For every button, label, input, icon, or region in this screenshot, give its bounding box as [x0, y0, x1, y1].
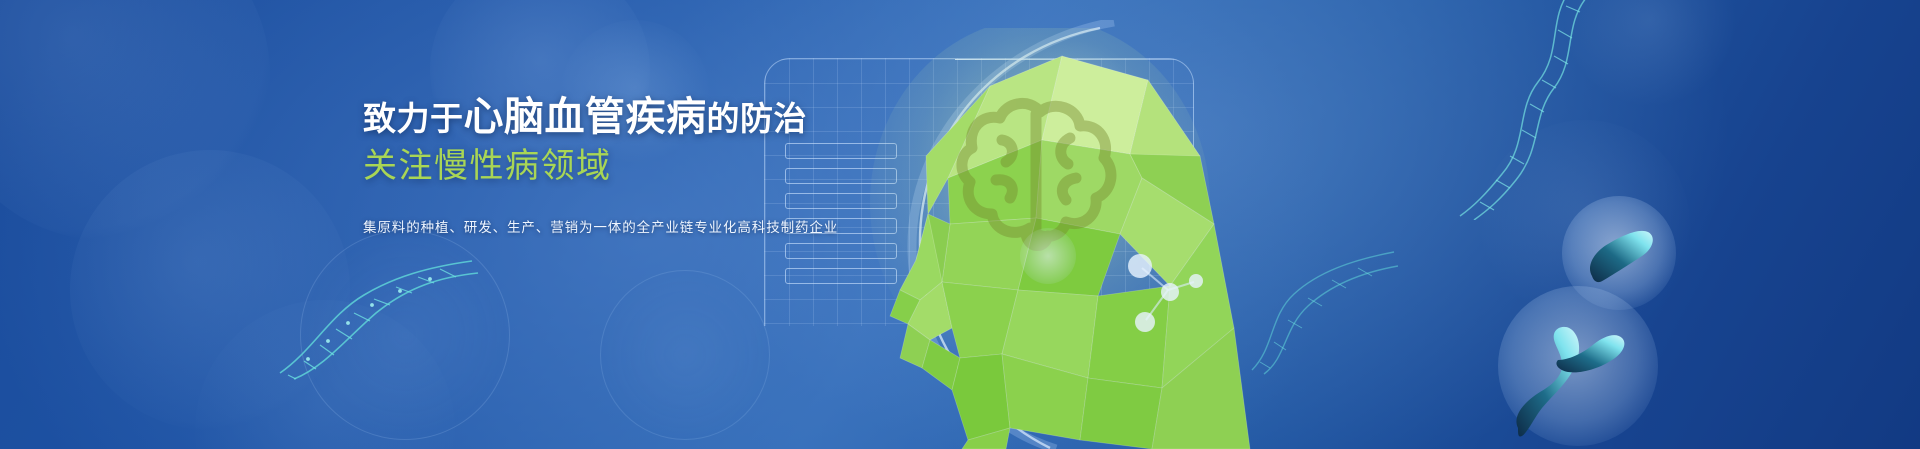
bokeh-circle [0, 0, 270, 240]
bokeh-circle [1560, 0, 1740, 110]
headline-part-1: 致力于 [363, 100, 464, 137]
molecule-icon [1102, 238, 1212, 348]
bokeh-circle [70, 150, 350, 430]
low-poly-head-silhouette [830, 28, 1280, 449]
hero-banner: 致力于心脑血管疾病的防治 关注慢性病领域 集原料的种植、研发、生产、营销为一体的… [0, 0, 1920, 449]
bokeh-circle [300, 230, 510, 440]
dna-helix-left [272, 255, 482, 385]
bacteria-cell-bottom-shape [1506, 316, 1636, 446]
bokeh-circle [600, 270, 770, 440]
page-title: 致力于心脑血管疾病的防治 [363, 96, 803, 138]
bokeh-circle [195, 300, 455, 449]
headline-part-2: 心脑血管疾病 [464, 95, 707, 139]
dna-helix-right [1430, 0, 1600, 220]
bacteria-cell-top-shape [1584, 222, 1660, 288]
headline-subline: 关注慢性病领域 [363, 147, 803, 186]
headline-part-3: 的防治 [707, 100, 808, 137]
hero-copy: 致力于心脑血管疾病的防治 关注慢性病领域 集原料的种植、研发、生产、营销为一体的… [363, 96, 803, 236]
hero-tagline: 集原料的种植、研发、生产、营销为一体的全产业链专业化高科技制药企业 [363, 216, 803, 236]
